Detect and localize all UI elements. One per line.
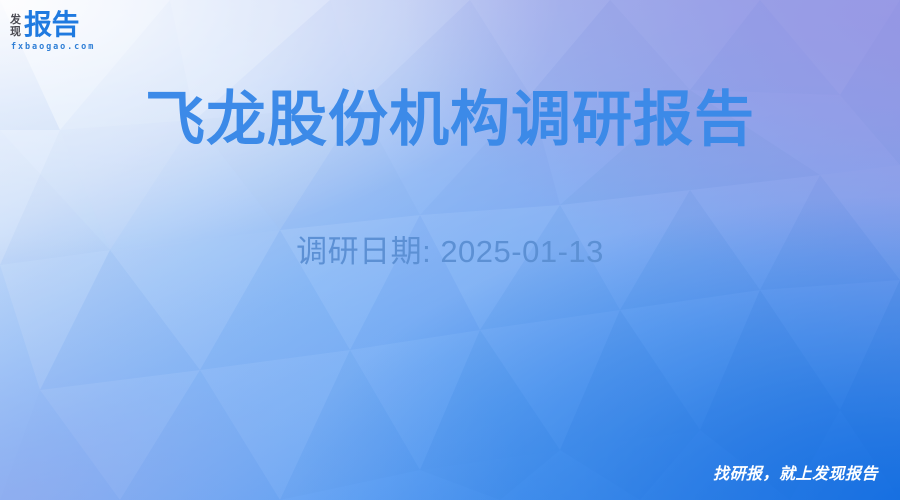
logo-character-xian: 现 — [10, 26, 21, 38]
brand-logo[interactable]: 发 现 报告 fxbaogao.com — [10, 9, 180, 55]
page-title: 飞龙股份机构调研报告 — [0, 84, 900, 156]
brand-tagline: 找研报，就上发现报告 — [713, 464, 878, 484]
logo-wordmark: 报告 — [24, 10, 79, 39]
report-cover-page: 发 现 报告 fxbaogao.com 飞龙股份机构调研报告 调研日期: 202… — [0, 0, 900, 500]
survey-date-subtitle: 调研日期: 2025-01-13 — [0, 232, 900, 272]
logo-stacked-characters: 发 现 — [10, 14, 21, 39]
logo-url: fxbaogao.com — [11, 42, 180, 52]
logo-mark: 发 现 报告 — [10, 9, 180, 39]
